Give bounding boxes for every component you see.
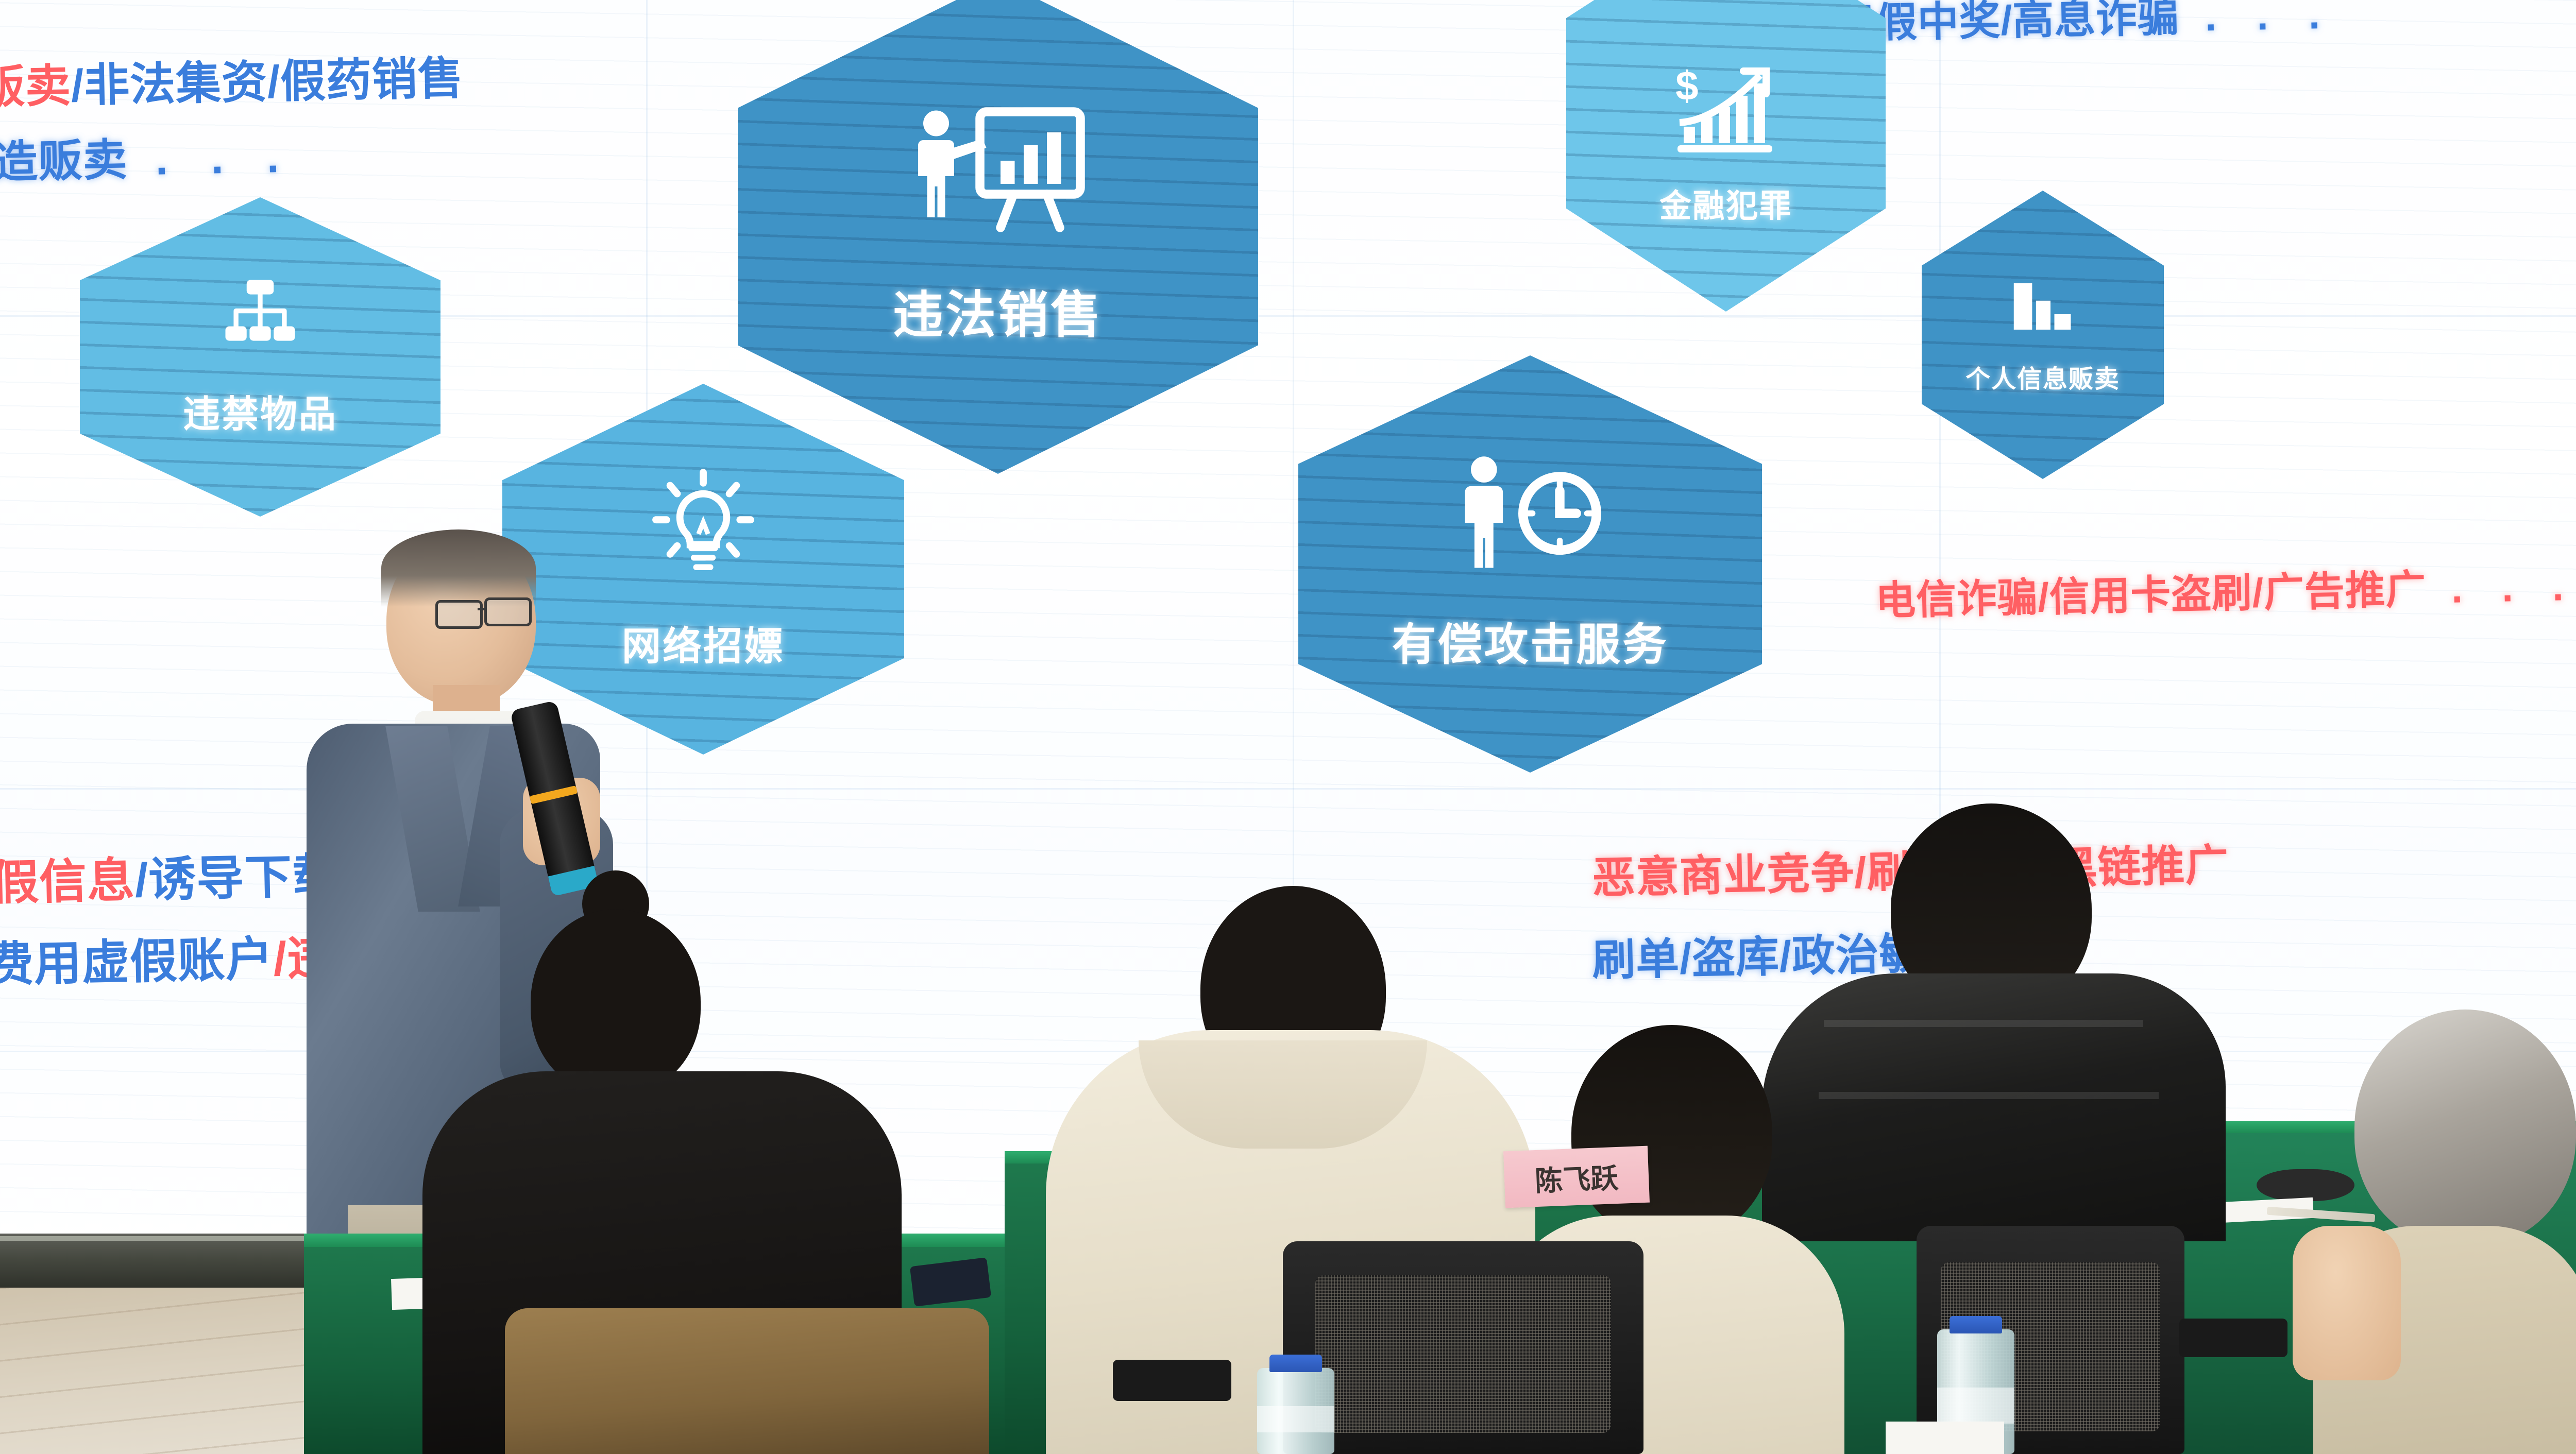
conference-photo: 贩卖/非法集资/假药销售 伪造贩卖 . . . 虚假中奖/高息诈骗 . . . … <box>0 0 2576 1454</box>
speaker-hair <box>381 529 536 607</box>
dollar-growth-icon: $ <box>1667 63 1785 158</box>
keyword-line-top-right: 虚假中奖/高息诈骗 . . . <box>1834 0 2335 50</box>
audience-head-grey <box>2354 1010 2576 1246</box>
svg-text:$: $ <box>1675 63 1699 109</box>
name-placard: 陈飞跃 <box>1503 1146 1650 1208</box>
hex-label-illegal-sales: 违法销售 <box>893 274 1103 347</box>
audience-raised-hand <box>2293 1226 2401 1380</box>
hex-label-financial-crime: 金融犯罪 <box>1659 180 1792 226</box>
hex-label-illicit-goods: 违禁物品 <box>183 384 337 438</box>
glasses-right-lens <box>484 597 532 626</box>
audience-head-front <box>1571 1025 1772 1241</box>
water-bottle-left <box>1257 1355 1334 1454</box>
puffer-seam-1 <box>1824 1020 2143 1027</box>
hex-tile-personal-data[interactable]: 个人信息贩卖 <box>1922 191 2164 479</box>
puffer-seam-2 <box>1819 1092 2159 1099</box>
hex-label-online-solicit: 网络招嫖 <box>622 614 785 671</box>
glasses-left-lens <box>435 600 483 629</box>
hex-tile-financial-crime[interactable]: $ 金融犯罪 <box>1566 0 1886 312</box>
microphone-band <box>530 785 578 804</box>
paper-sheet-front <box>1886 1422 2004 1454</box>
office-chair-center <box>1283 1241 1643 1454</box>
audience-head-bun <box>531 909 701 1094</box>
bottle-cap <box>1269 1355 1322 1372</box>
person-clock-icon <box>1453 455 1607 576</box>
keyword-line-right-middle: 电信诈骗/信用卡盗刷/广告推广 . . . <box>1875 554 2576 627</box>
bottle-label <box>1937 1388 2014 1424</box>
bar-chart-icon <box>2004 276 2081 340</box>
audience-member-grey-hair <box>2277 1010 2576 1454</box>
hex-label-personal-data: 个人信息贩卖 <box>1965 358 2120 395</box>
glasses-bridge <box>478 608 486 610</box>
hex-tile-paid-attack[interactable]: 有偿攻击服务 <box>1298 355 1762 773</box>
hex-tile-illegal-sales[interactable]: 违法销售 <box>738 0 1258 474</box>
presenter-chart-icon <box>905 107 1091 238</box>
bottle-cap <box>1950 1316 2002 1333</box>
name-placard-text: 陈飞跃 <box>1534 1155 1619 1199</box>
bottle-label <box>1257 1406 1334 1432</box>
chair-back-tan <box>505 1308 989 1454</box>
keyword-line-top-left-2: 伪造贩卖 . . . <box>0 121 295 192</box>
chair-armrest-left <box>1113 1360 1231 1401</box>
hex-tile-illicit-goods[interactable]: 违禁物品 <box>80 197 440 517</box>
keyword-line-top-left: 贩卖/非法集资/假药销售 <box>0 42 464 116</box>
lightbulb-icon <box>644 468 762 589</box>
org-chart-icon <box>211 276 309 356</box>
chair-armrest-right <box>2179 1319 2287 1357</box>
chair-mesh-back <box>1315 1275 1611 1433</box>
hex-stripe-overlay <box>80 197 440 517</box>
hex-label-paid-attack: 有偿攻击服务 <box>1392 608 1669 673</box>
